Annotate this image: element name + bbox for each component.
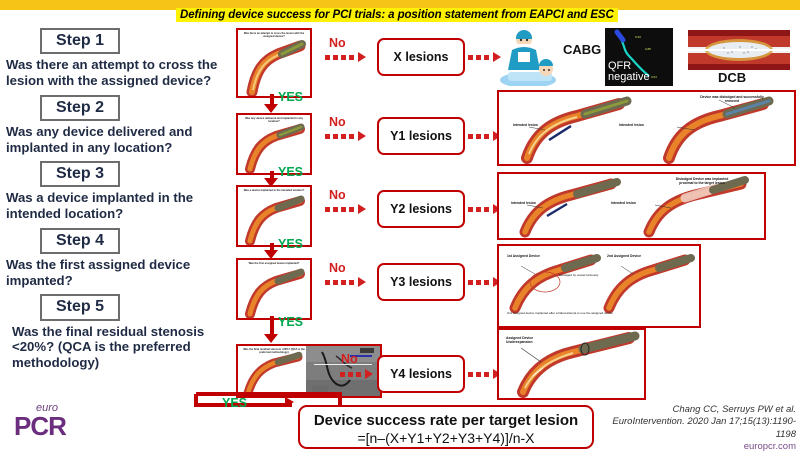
- y3-note: Damaged by vessel tortuosity: [559, 274, 607, 278]
- y3-label-2: 2nd Assigned Device: [607, 254, 641, 258]
- lesion-box-y4[interactable]: Y4 lesions: [377, 355, 465, 393]
- result-line-2: =[n–(X+Y1+Y2+Y3+Y4)]/n-X: [300, 430, 592, 446]
- arrow-dot: [333, 207, 338, 212]
- result-line-1: Device success rate per target lesion: [300, 412, 592, 429]
- arrow-dot: [325, 55, 330, 60]
- yes-label-4: YES: [278, 315, 303, 329]
- cabg-surgery-icon: [500, 28, 560, 86]
- arrow-dot: [349, 207, 354, 212]
- citation-block: Chang CC, Serruys PW et al. EuroInterven…: [600, 404, 796, 453]
- y3-label-1: 1st Assigned Device: [507, 254, 540, 258]
- citation-url[interactable]: europcr.com: [600, 441, 796, 453]
- y2-label-2: Intended lesion: [611, 201, 636, 205]
- artery-illustration-svg: [238, 346, 310, 396]
- y4-outcome-panel: Assigned Device Underexpansion: [497, 328, 646, 400]
- yes-label-2: YES: [278, 165, 303, 179]
- arrow-dot: [476, 372, 481, 377]
- lesion-box-y1[interactable]: Y1 lesions: [377, 117, 465, 155]
- y1-outcome-panel: Intended lesion Intended lesion Device w…: [497, 90, 796, 166]
- arrow-dot: [476, 134, 481, 139]
- logo-text-pcr: PCR: [14, 414, 104, 439]
- arrow-dot: [356, 372, 361, 377]
- y3-footnote: 2nd assigned device implanted after a fa…: [507, 312, 657, 316]
- arrow-head: [358, 131, 366, 141]
- step-question-3: Was a device implanted in the intended l…: [6, 190, 228, 221]
- cabg-label: CABG: [563, 42, 601, 57]
- step-label-3: Step 3: [40, 161, 120, 187]
- y2-label-1: Intended lesion: [511, 201, 536, 205]
- arrow-dot: [333, 55, 338, 60]
- yes-arrow-head-4: [264, 334, 278, 343]
- y4-label-1: Assigned Device Underexpansion: [506, 336, 556, 345]
- result-formula-box: Device success rate per target lesion =[…: [298, 405, 594, 449]
- step-label-1: Step 1: [40, 28, 120, 54]
- y1-label-2: Intended lesion: [619, 123, 644, 127]
- arrow-dot: [476, 55, 481, 60]
- no-arrow-3: [325, 204, 366, 214]
- arrow-dot: [341, 207, 346, 212]
- step-question-1: Was there an attempt to cross the lesion…: [6, 57, 228, 88]
- artery-illustration-svg: [238, 30, 310, 96]
- arrow-head: [358, 52, 366, 62]
- step-question-4: Was the first assigned device impanted?: [6, 257, 228, 288]
- europcr-logo: euro PCR: [14, 403, 104, 439]
- no-label-1: No: [329, 36, 346, 50]
- step-block-1: Step 1 Was there an attempt to cross the…: [0, 28, 228, 89]
- arrow-dot: [325, 207, 330, 212]
- no-arrow-1: [325, 52, 366, 62]
- no-label-3: No: [329, 188, 346, 202]
- arrow-head: [365, 369, 373, 379]
- arrow-dot: [333, 134, 338, 139]
- svg-text:0.93: 0.93: [635, 35, 641, 39]
- steps-column: Step 1 Was there an attempt to cross the…: [0, 28, 228, 376]
- step-question-5: Was the final residual stenosis <20%? (Q…: [12, 324, 228, 371]
- yes-arrow-head-3: [264, 250, 278, 259]
- citation-authors: Chang CC, Serruys PW et al.: [600, 404, 796, 416]
- arrow-dot: [468, 134, 473, 139]
- arrow-dot: [341, 55, 346, 60]
- y2-note: Dislodged Device was implanted proximal …: [671, 177, 733, 186]
- qfr-label-line2: negative: [608, 72, 650, 84]
- arrow-dot: [348, 372, 353, 377]
- lesion-box-y2[interactable]: Y2 lesions: [377, 190, 465, 228]
- flow-illustration-1: Was there an attempt to cross the lesion…: [236, 28, 312, 98]
- y2-outcome-panel: Intended lesion Intended lesion Dislodge…: [497, 172, 766, 240]
- arrow-dot: [476, 280, 481, 285]
- arrow-dot: [333, 280, 338, 285]
- arrow-dot: [468, 372, 473, 377]
- dcb-label: DCB: [718, 70, 746, 85]
- arrow-dot: [484, 280, 489, 285]
- svg-text:0.64: 0.64: [651, 75, 657, 79]
- arrow-dot: [468, 280, 473, 285]
- lesion-box-y3[interactable]: Y3 lesions: [377, 263, 465, 301]
- lesion-box-x[interactable]: X lesions: [377, 38, 465, 76]
- arrow-head: [358, 277, 366, 287]
- x-to-outcomes-arrow: [468, 52, 501, 62]
- step-question-2: Was any device delivered and implanted i…: [6, 124, 228, 155]
- citation-journal: EuroIntervention. 2020 Jan 17;15(13):119…: [600, 416, 796, 441]
- arrow-dot: [484, 55, 489, 60]
- yes-arrow-head-1: [264, 104, 278, 113]
- arrow-dot: [349, 55, 354, 60]
- step-label-5: Step 5: [40, 294, 120, 320]
- qfr-image-panel: 0.93 0.88 0.64 QFR negative: [605, 28, 673, 86]
- arrow-dot: [341, 134, 346, 139]
- yes-arrow-head-5: [285, 397, 301, 407]
- arrow-dot: [349, 280, 354, 285]
- no-arrow-5: [340, 369, 373, 379]
- arrow-dot: [468, 55, 473, 60]
- arrow-dot: [341, 280, 346, 285]
- no-label-5: No: [341, 352, 358, 366]
- page-title: Defining device success for PCI trials: …: [176, 8, 618, 22]
- arrow-dot: [325, 134, 330, 139]
- arrow-dot: [340, 372, 345, 377]
- arrow-dot: [468, 207, 473, 212]
- y3-outcome-panel: 1st Assigned Device 2nd Assigned Device …: [497, 244, 701, 328]
- arrow-dot: [325, 280, 330, 285]
- no-arrow-4: [325, 277, 366, 287]
- yes-arrow-head-2: [264, 178, 278, 187]
- step-block-4: Step 4 Was the first assigned device imp…: [0, 228, 228, 289]
- yes-label-1: YES: [278, 90, 303, 104]
- arrow-dot: [484, 134, 489, 139]
- step-block-2: Step 2 Was any device delivered and impl…: [0, 95, 228, 156]
- yes-label-5: YES: [222, 396, 247, 410]
- dcb-balloon-illustration: [688, 28, 790, 72]
- step-label-4: Step 4: [40, 228, 120, 254]
- flow-illustration-4: Was the first assigned device implanted?: [236, 258, 312, 320]
- arrow-dot: [484, 372, 489, 377]
- y1-note: Device was dislodged and successfully re…: [699, 95, 765, 104]
- svg-text:0.88: 0.88: [645, 47, 651, 51]
- y1-label-1: Intended lesion: [513, 123, 538, 127]
- no-arrow-2: [325, 131, 366, 141]
- step-block-5: Step 5 Was the final residual stenosis <…: [0, 294, 228, 370]
- no-label-4: No: [329, 261, 346, 275]
- qfr-label: QFR negative: [608, 61, 650, 84]
- arrow-dot: [484, 207, 489, 212]
- arrow-dot: [349, 134, 354, 139]
- step-label-2: Step 2: [40, 95, 120, 121]
- artery-illustration-svg: [238, 260, 310, 318]
- arrow-dot: [476, 207, 481, 212]
- arrow-head: [358, 204, 366, 214]
- yes-arrow-5-top: [196, 392, 342, 396]
- step-block-3: Step 3 Was a device implanted in the int…: [0, 161, 228, 222]
- no-label-2: No: [329, 115, 346, 129]
- yes-label-3: YES: [278, 237, 303, 251]
